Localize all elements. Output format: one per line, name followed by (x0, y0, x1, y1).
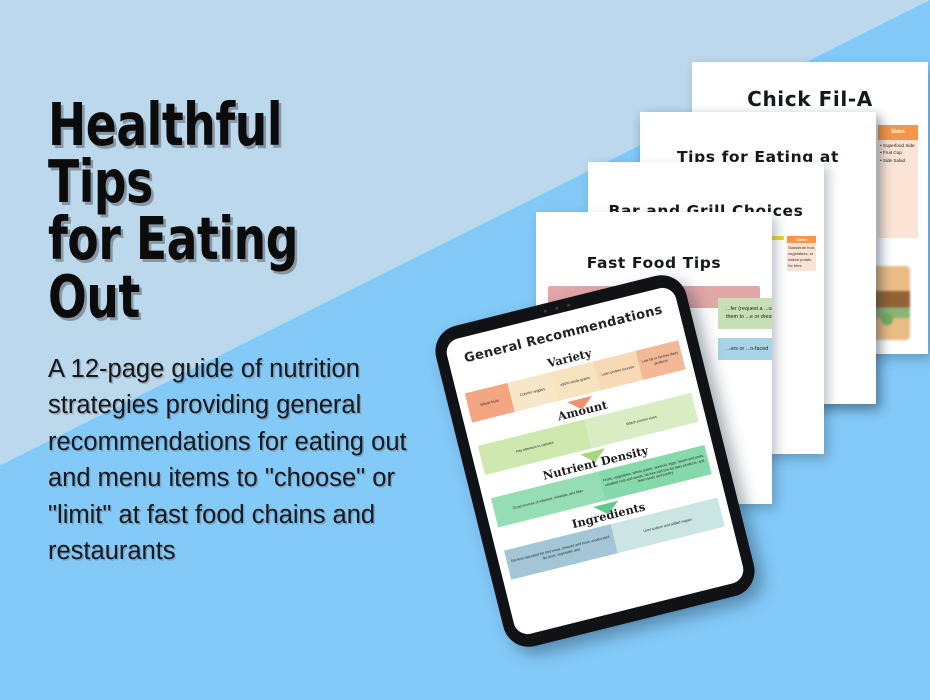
fast-food-note-list: ...fer (request a ...un or bread for ...… (718, 298, 772, 369)
column-body: Substitute fruit, vegetables, or baked p… (787, 243, 816, 271)
list-item: • Fruit Cup (880, 150, 916, 157)
column-header: Sides (878, 125, 918, 140)
page-title-chick-fil-a: Chick Fil-A (692, 62, 928, 111)
table-column: Sides • Superfood Side • Fruit Cup • Sid… (878, 125, 918, 238)
note-card: ...ers or ...n-faced (718, 338, 772, 360)
page-title: Healthful Tips for Eating Out (48, 96, 392, 325)
table-column: Sides Substitute fruit, vegetables, or b… (787, 236, 816, 271)
list-item: • Superfood Side (880, 143, 916, 150)
hero-copy: Healthful Tips for Eating Out A 12-page … (48, 96, 448, 570)
list-item: • Side Salad (880, 158, 916, 165)
note-card: ...fer (request a ...un or bread for ...… (718, 298, 772, 329)
poster-canvas: Chick Fil-A Breakfast • Egg White Sandwi… (0, 0, 930, 700)
page-subtitle: A 12-page guide of nutrition strategies … (48, 351, 443, 570)
page-title-fast-food-tips: Fast Food Tips (536, 212, 772, 272)
column-header: Sides (787, 236, 816, 243)
column-body: • Superfood Side • Fruit Cup • Side Sala… (878, 140, 918, 238)
